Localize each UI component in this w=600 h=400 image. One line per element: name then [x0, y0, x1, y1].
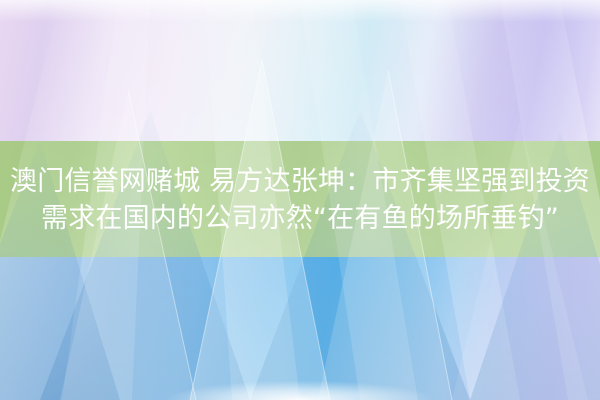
background-zone-green — [0, 141, 600, 257]
background-zone-top — [0, 0, 600, 141]
background-zone-bottom — [0, 257, 600, 400]
decorative-banner: 澳门信誉网赌城 易方达张坤：市齐集坚强到投资 需求在国内的公司亦然“在有鱼的场所… — [0, 0, 600, 400]
